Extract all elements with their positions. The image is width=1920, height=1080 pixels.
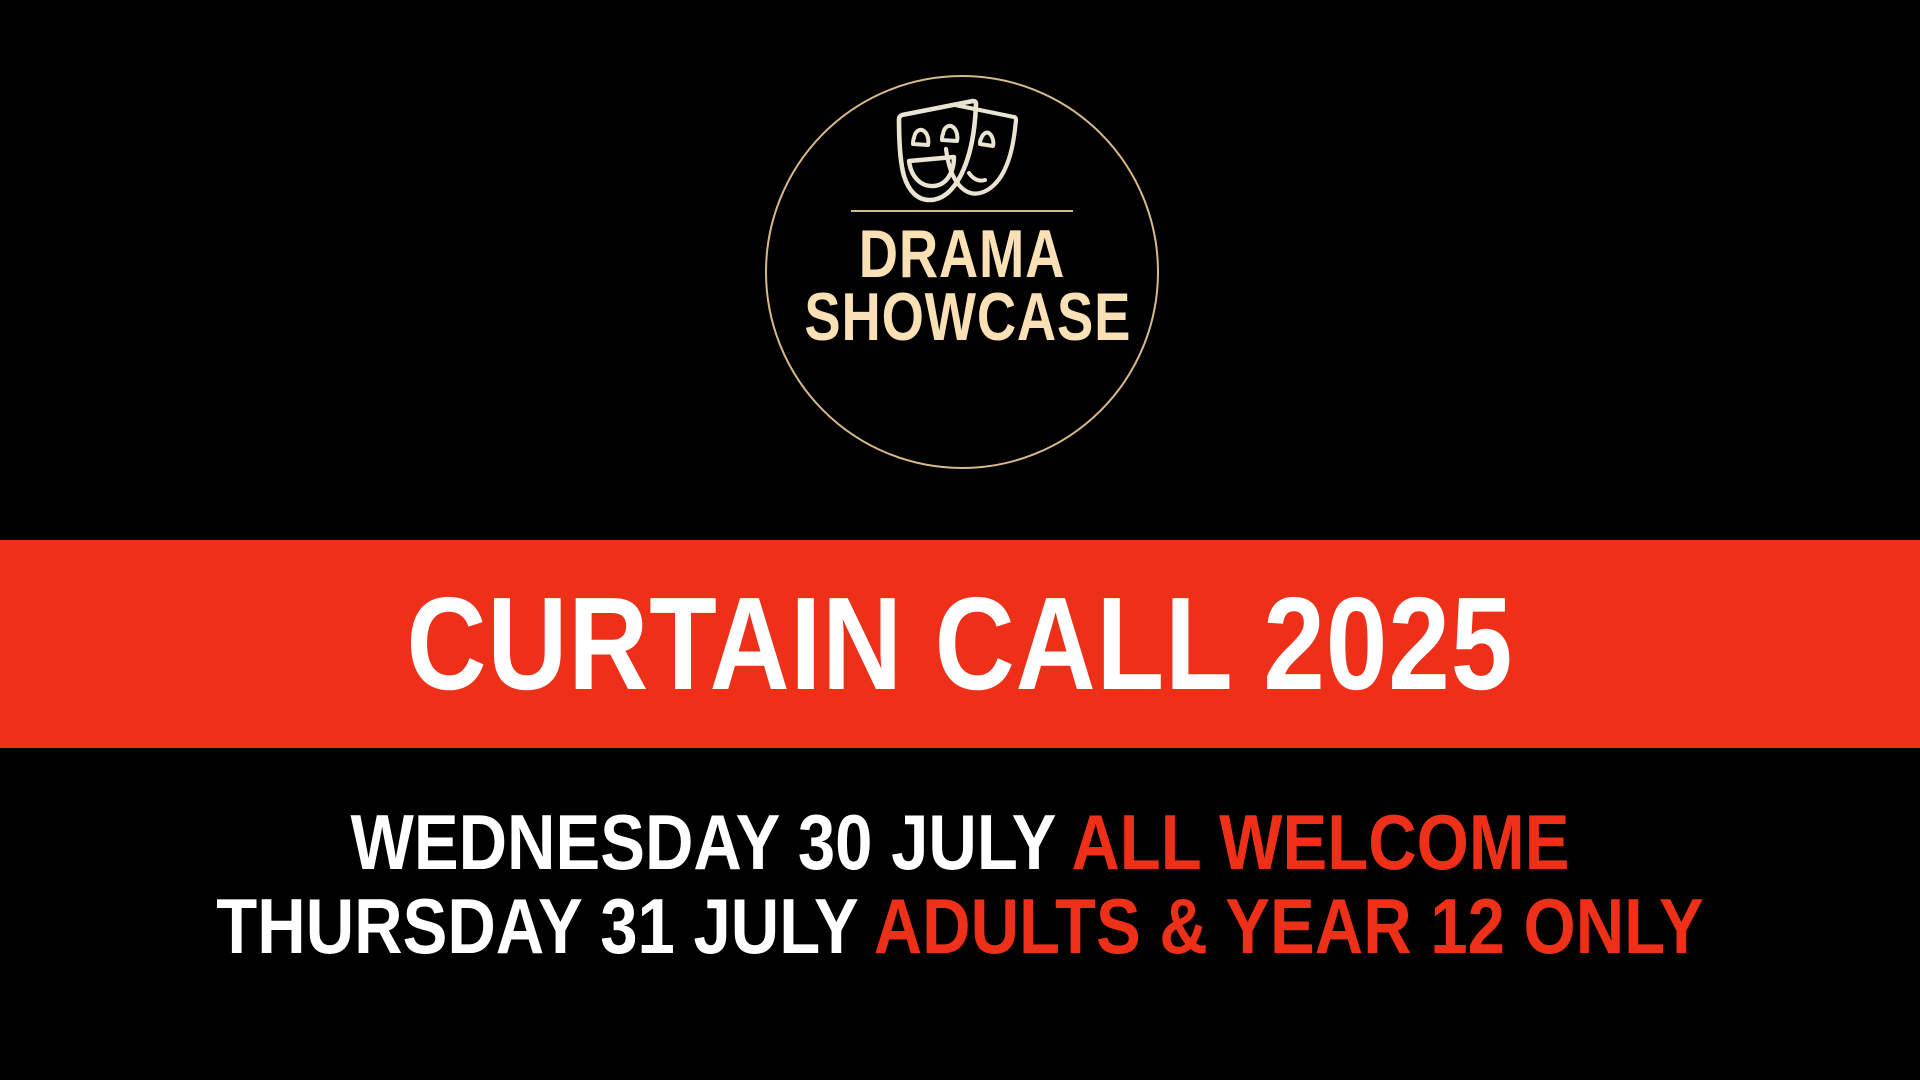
banner-title: CURTAIN CALL 2025 (407, 578, 1514, 710)
logo-wordmark: DRAMA SHOWCASE (804, 223, 1119, 348)
theatre-masks-icon (877, 91, 1047, 216)
date-line-audience: ALL WELCOME (1071, 798, 1569, 886)
date-line-separator (858, 882, 874, 970)
date-line: WEDNESDAY 30 JULY ALL WELCOME (134, 800, 1785, 884)
date-line-audience: ADULTS & YEAR 12 ONLY (874, 882, 1704, 970)
logo-badge: DRAMA SHOWCASE (765, 75, 1159, 469)
date-line-separator (1055, 798, 1071, 886)
logo-wordmark-line-1: DRAMA (804, 223, 1119, 286)
date-line-when: THURSDAY 31 JULY (216, 882, 857, 970)
date-line-when: WEDNESDAY 30 JULY (351, 798, 1056, 886)
title-banner: CURTAIN CALL 2025 (0, 540, 1920, 748)
logo-wordmark-line-2: SHOWCASE (804, 286, 1119, 349)
logo-divider (851, 210, 1073, 212)
dates-block: WEDNESDAY 30 JULY ALL WELCOME THURSDAY 3… (0, 800, 1920, 968)
date-line: THURSDAY 31 JULY ADULTS & YEAR 12 ONLY (134, 884, 1785, 968)
drama-showcase-poster: DRAMA SHOWCASE CURTAIN CALL 2025 WEDNESD… (0, 0, 1920, 1080)
